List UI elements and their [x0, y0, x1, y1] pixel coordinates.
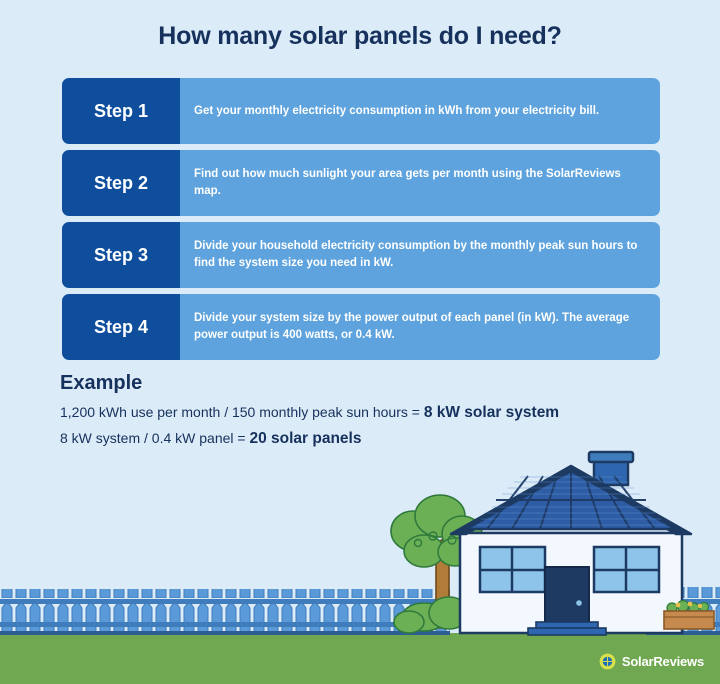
example-line-2-prefix: 8 kW system / 0.4 kW panel = [60, 430, 249, 446]
step-row-4: Step 4 Divide your system size by the po… [62, 294, 660, 360]
logo-text: SolarReviews [622, 654, 704, 669]
door-knob [576, 600, 582, 606]
step-text-4: Divide your system size by the power out… [180, 294, 660, 360]
solar-panel-array [466, 471, 676, 529]
step-row-3: Step 3 Divide your household electricity… [62, 222, 660, 288]
step-badge-2: Step 2 [62, 150, 180, 216]
page-title: How many solar panels do I need? [0, 22, 720, 51]
door-steps [528, 622, 606, 635]
step-badge-1: Step 1 [62, 78, 180, 144]
example-heading: Example [60, 372, 680, 395]
fence-right [646, 587, 720, 635]
window-left [480, 547, 545, 592]
step-text-1: Get your monthly electricity consumption… [180, 78, 660, 144]
infographic-canvas: How many solar panels do I need? Step 1 … [0, 0, 720, 684]
example-section: Example 1,200 kWh use per month / 150 mo… [60, 372, 680, 456]
step-row-2: Step 2 Find out how much sunlight your a… [62, 150, 660, 216]
steps-list: Step 1 Get your monthly electricity cons… [62, 78, 660, 366]
roof [451, 466, 691, 534]
tree-illustration [391, 495, 482, 633]
front-door [545, 567, 589, 633]
example-line-2-result: 20 solar panels [249, 430, 361, 447]
step-badge-4: Step 4 [62, 294, 180, 360]
fence-left [0, 589, 450, 635]
example-line-2: 8 kW system / 0.4 kW panel = 20 solar pa… [60, 430, 680, 448]
solarreviews-logo[interactable]: SolarReviews [599, 653, 704, 670]
step-row-1: Step 1 Get your monthly electricity cons… [62, 78, 660, 144]
house-wall [460, 533, 682, 633]
example-line-1-prefix: 1,200 kWh use per month / 150 monthly pe… [60, 404, 424, 420]
example-line-1-result: 8 kW solar system [424, 404, 559, 421]
planter-box [664, 601, 714, 630]
step-badge-3: Step 3 [62, 222, 180, 288]
solar-sun-icon [599, 653, 616, 670]
window-right [594, 547, 659, 592]
example-line-1: 1,200 kWh use per month / 150 monthly pe… [60, 404, 680, 422]
house-illustration [451, 452, 691, 635]
step-text-2: Find out how much sunlight your area get… [180, 150, 660, 216]
chimney [594, 455, 628, 485]
step-text-3: Divide your household electricity consum… [180, 222, 660, 288]
